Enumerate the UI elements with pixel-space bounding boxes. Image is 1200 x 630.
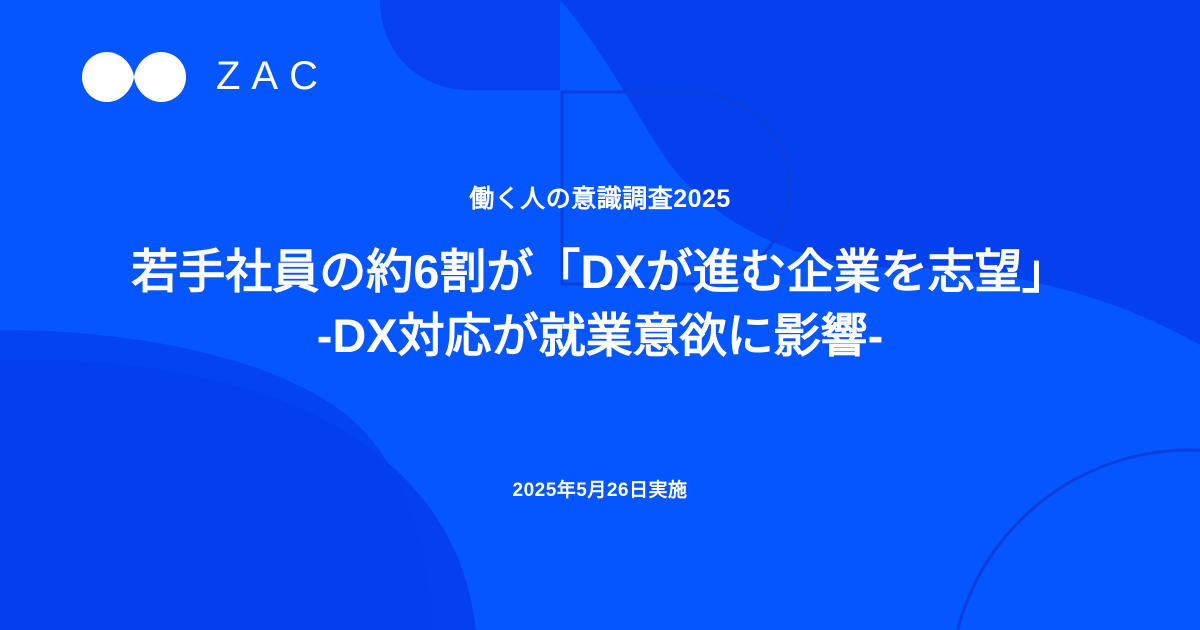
survey-date: 2025年5月26日実施 <box>513 475 688 502</box>
social-share-card: ZAC 働く人の意識調査2025 若手社員の約6割が「DXが進む企業を志望」 -… <box>0 0 1200 630</box>
card-content: 働く人の意識調査2025 若手社員の約6割が「DXが進む企業を志望」 -DX対応… <box>0 0 1200 630</box>
survey-eyebrow: 働く人の意識調査2025 <box>469 184 731 214</box>
headline-line-1: 若手社員の約6割が「DXが進む企業を志望」 <box>131 240 1068 304</box>
headline-line-2: -DX対応が就業意欲に影響- <box>131 304 1068 368</box>
page-title: 若手社員の約6割が「DXが進む企業を志望」 -DX対応が就業意欲に影響- <box>131 240 1068 368</box>
